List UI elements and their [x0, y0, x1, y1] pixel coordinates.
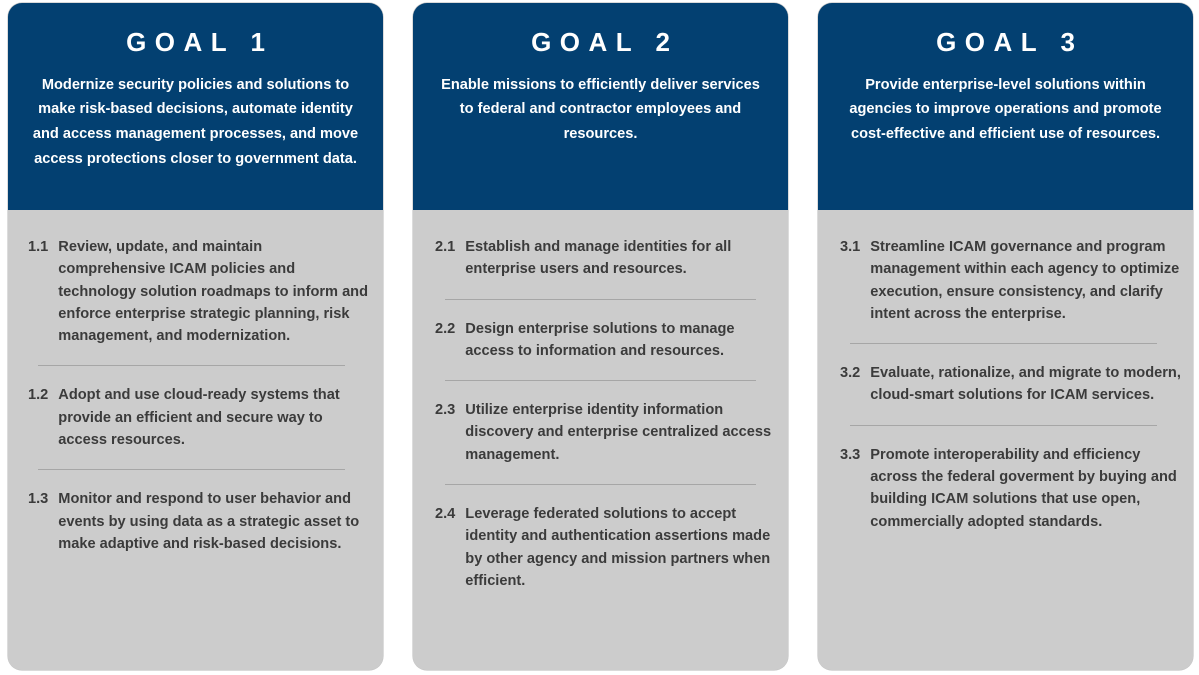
- objective-number: 2.4: [435, 503, 455, 525]
- goal-2-header: GOAL 2 Enable missions to efficiently de…: [413, 3, 788, 210]
- objective-text: Adopt and use cloud-ready systems that p…: [58, 384, 369, 451]
- objective-number: 3.1: [840, 236, 860, 258]
- objective-item: 2.2 Design enterprise solutions to manag…: [435, 318, 780, 363]
- objective-number: 3.2: [840, 362, 860, 384]
- objective-item: 3.2 Evaluate, rationalize, and migrate t…: [840, 362, 1181, 407]
- objective-divider: [445, 484, 756, 485]
- objective-divider: [445, 380, 756, 381]
- objective-text: Streamline ICAM governance and program m…: [870, 236, 1181, 325]
- goal-card-1: GOAL 1 Modernize security policies and s…: [8, 3, 383, 670]
- objective-divider: [445, 299, 756, 300]
- objective-text: Establish and manage identities for all …: [465, 236, 780, 281]
- goal-1-objectives: 1.1 Review, update, and maintain compreh…: [8, 210, 383, 670]
- goal-3-title: GOAL 3: [928, 28, 1084, 57]
- goal-2-title: GOAL 2: [523, 28, 679, 57]
- goal-2-description: Enable missions to efficiently deliver s…: [436, 73, 766, 147]
- objective-item: 2.4 Leverage federated solutions to acce…: [435, 503, 780, 592]
- objective-text: Review, update, and maintain comprehensi…: [58, 236, 369, 347]
- objective-text: Evaluate, rationalize, and migrate to mo…: [870, 362, 1181, 407]
- goals-board: GOAL 1 Modernize security policies and s…: [0, 0, 1199, 675]
- objective-number: 2.2: [435, 318, 455, 340]
- goal-card-2: GOAL 2 Enable missions to efficiently de…: [413, 3, 788, 670]
- objective-divider: [850, 425, 1157, 426]
- objective-text: Design enterprise solutions to manage ac…: [465, 318, 780, 363]
- objective-number: 1.3: [28, 488, 48, 510]
- objective-divider: [38, 365, 345, 366]
- goal-2-objectives: 2.1 Establish and manage identities for …: [413, 210, 788, 670]
- objective-item: 2.3 Utilize enterprise identity informat…: [435, 399, 780, 466]
- goal-3-objectives: 3.1 Streamline ICAM governance and progr…: [818, 210, 1193, 670]
- objective-item: 3.1 Streamline ICAM governance and progr…: [840, 236, 1181, 325]
- objective-text: Leverage federated solutions to accept i…: [465, 503, 780, 592]
- objective-item: 1.3 Monitor and respond to user behavior…: [28, 488, 369, 555]
- objective-number: 2.1: [435, 236, 455, 258]
- objective-item: 1.1 Review, update, and maintain compreh…: [28, 236, 369, 347]
- goal-card-3: GOAL 3 Provide enterprise-level solution…: [818, 3, 1193, 670]
- objective-number: 1.1: [28, 236, 48, 258]
- objective-number: 1.2: [28, 384, 48, 406]
- goal-3-description: Provide enterprise-level solutions withi…: [836, 73, 1175, 147]
- objective-item: 2.1 Establish and manage identities for …: [435, 236, 780, 281]
- objective-number: 3.3: [840, 444, 860, 466]
- objective-text: Utilize enterprise identity information …: [465, 399, 780, 466]
- objective-item: 1.2 Adopt and use cloud-ready systems th…: [28, 384, 369, 451]
- objective-divider: [38, 469, 345, 470]
- objective-text: Monitor and respond to user behavior and…: [58, 488, 369, 555]
- goal-3-header: GOAL 3 Provide enterprise-level solution…: [818, 3, 1193, 210]
- goal-1-description: Modernize security policies and solution…: [26, 73, 365, 172]
- goal-1-header: GOAL 1 Modernize security policies and s…: [8, 3, 383, 210]
- goal-1-title: GOAL 1: [118, 28, 274, 57]
- objective-divider: [850, 343, 1157, 344]
- objective-item: 3.3 Promote interoperability and efficie…: [840, 444, 1181, 533]
- objective-text: Promote interoperability and efficiency …: [870, 444, 1181, 533]
- objective-number: 2.3: [435, 399, 455, 421]
